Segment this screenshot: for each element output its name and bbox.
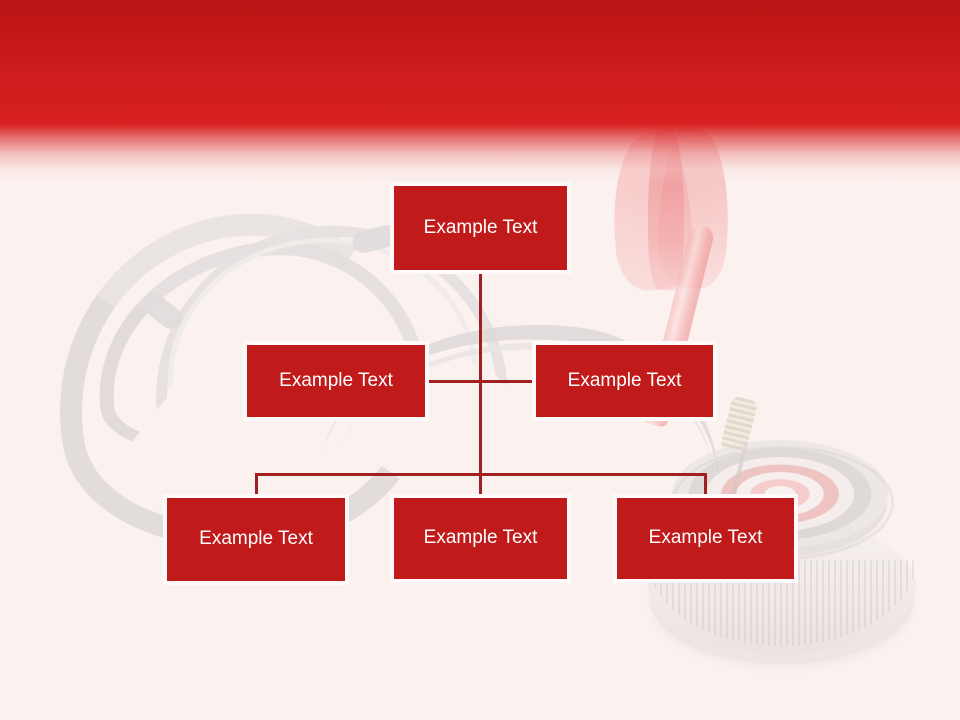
connector-leaf3-drop (704, 473, 707, 495)
connector-level3-bus (255, 473, 707, 476)
org-node-leaf-2-label: Example Text (424, 527, 538, 550)
org-node-mid-right[interactable]: Example Text (532, 341, 717, 421)
org-node-leaf-1-label: Example Text (199, 528, 313, 551)
connector-level2-horizontal (429, 380, 533, 383)
org-node-mid-left[interactable]: Example Text (243, 341, 429, 421)
slide-canvas: Org Chart / Hierarchy – Your Title Text … (0, 0, 960, 720)
org-node-leaf-1[interactable]: Example Text (163, 494, 349, 585)
connector-leaf1-drop (255, 473, 258, 495)
org-node-root[interactable]: Example Text (390, 182, 571, 274)
org-node-leaf-3[interactable]: Example Text (613, 494, 798, 583)
org-node-root-label: Example Text (424, 217, 538, 240)
connector-root-vertical (479, 274, 482, 494)
org-node-mid-left-label: Example Text (279, 370, 393, 393)
org-node-mid-right-label: Example Text (568, 370, 682, 393)
org-node-leaf-2[interactable]: Example Text (390, 494, 571, 583)
org-node-leaf-3-label: Example Text (649, 527, 763, 550)
connector-lines (0, 0, 960, 720)
